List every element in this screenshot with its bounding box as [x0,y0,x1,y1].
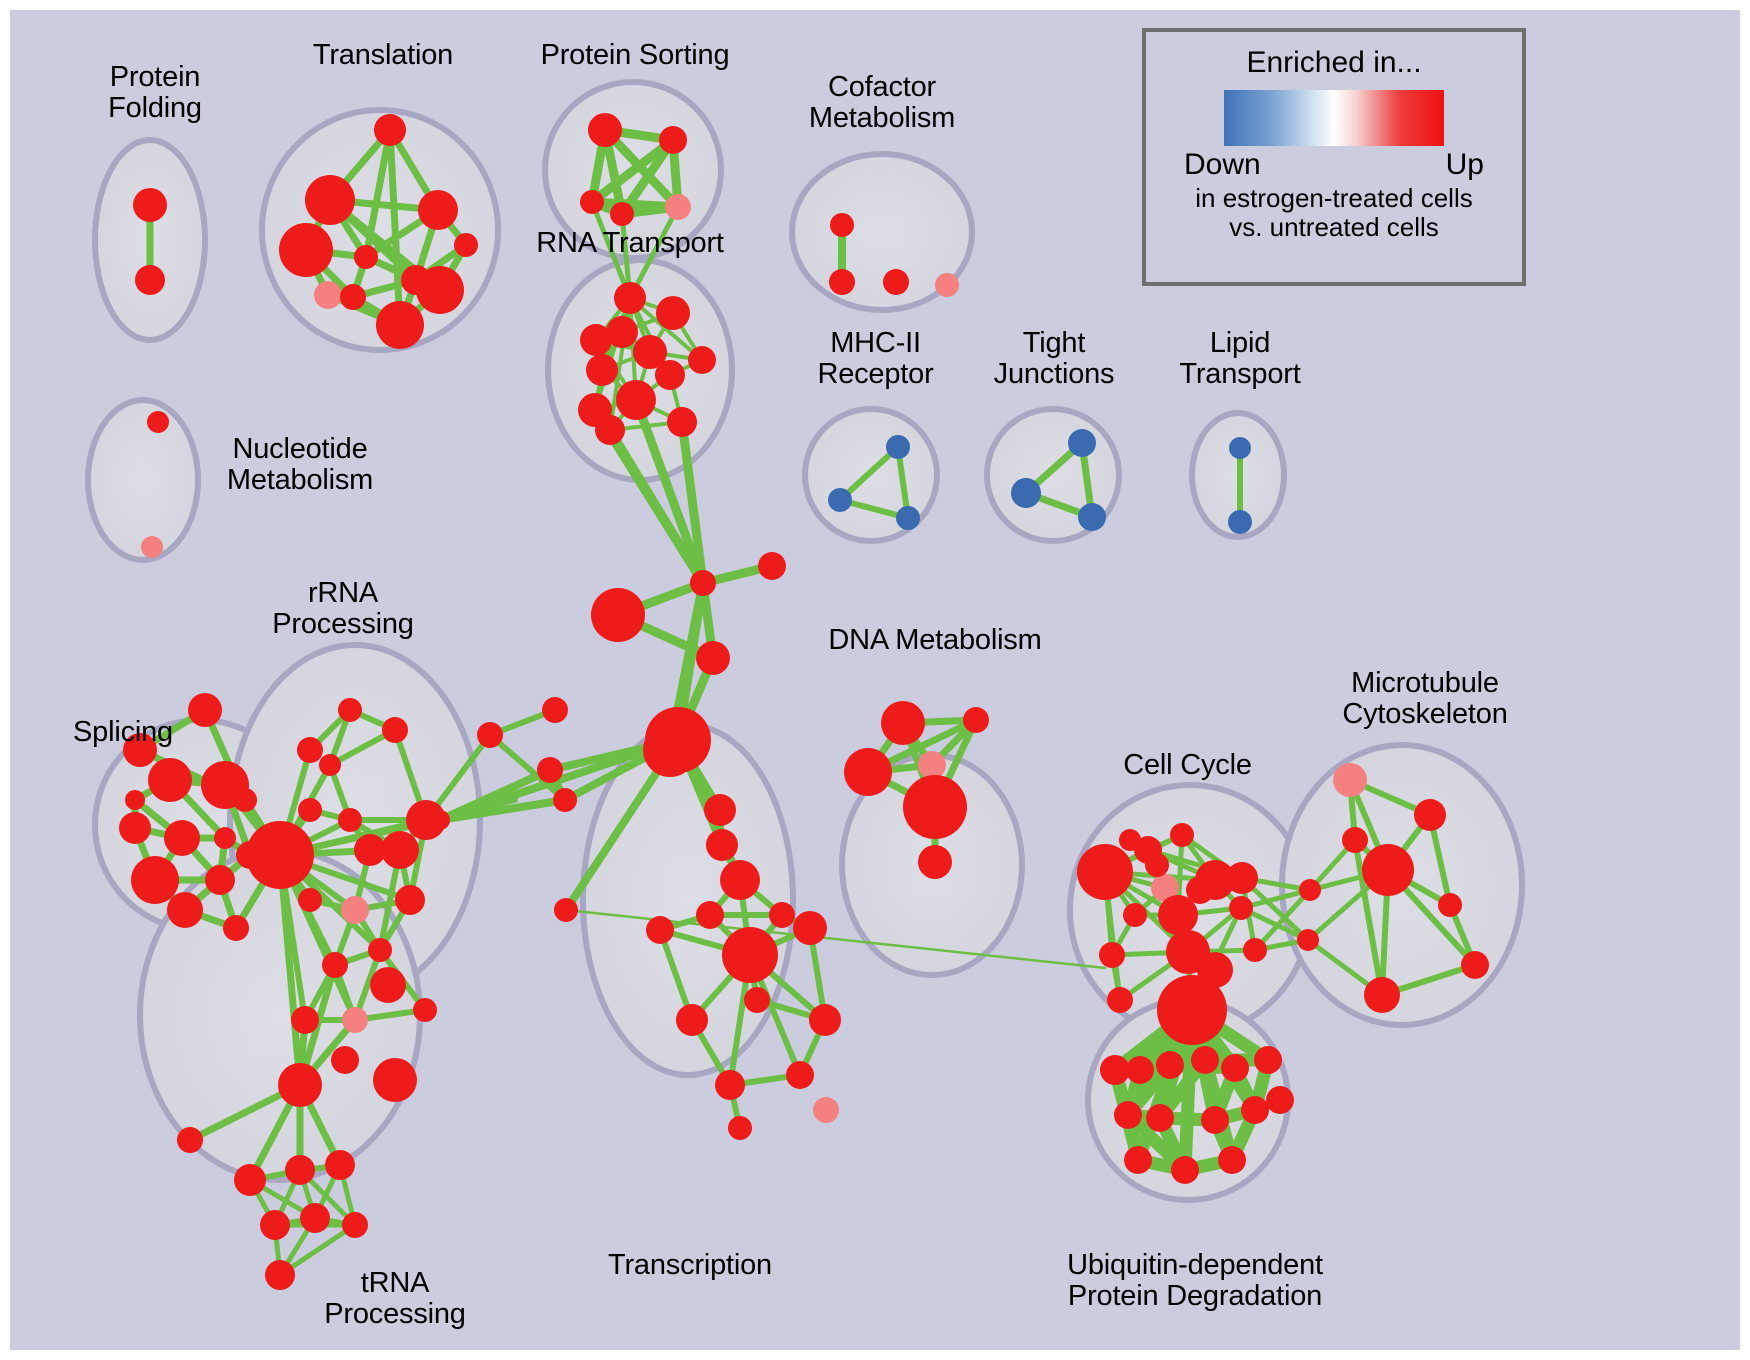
node [374,114,406,146]
node [260,1210,290,1240]
node [1077,844,1133,900]
node [646,916,674,944]
node [1124,1146,1152,1174]
cluster-label-ubiquitin: Ubiquitin-dependent Protein Degradation [985,1250,1405,1311]
node [376,301,424,349]
node [881,701,925,745]
node [676,1004,708,1036]
node [285,1155,315,1185]
cluster-label-rna-transport: RNA Transport [505,228,755,259]
node [758,552,786,580]
node [131,856,179,904]
node [368,938,392,962]
node [1266,1086,1294,1114]
node [298,798,322,822]
node [809,1004,841,1036]
legend-title: Enriched in... [1146,46,1522,80]
node [918,845,952,879]
cluster-label-protein-sorting: Protein Sorting [495,40,775,71]
node [1228,510,1252,534]
node [298,888,322,912]
node [643,723,697,777]
cluster-label-cell-cycle: Cell Cycle [1095,750,1280,781]
node [188,693,222,727]
node [1146,1104,1174,1132]
node [1414,799,1446,831]
node [454,233,478,257]
node [305,175,355,225]
node [141,536,163,558]
node [177,1127,203,1153]
node [148,758,192,802]
node [591,588,645,642]
node [769,902,795,928]
node [830,213,854,237]
node [586,354,618,386]
node [300,1203,330,1233]
cluster-label-tight-junctions: Tight Junctions [965,328,1143,389]
node [1119,829,1141,851]
node [1221,1054,1249,1082]
node [886,435,910,459]
node [340,284,366,310]
node [1197,952,1233,988]
node [119,812,151,844]
cluster-label-microtubule: Microtubule Cytoskeleton [1300,668,1550,729]
node [1068,429,1096,457]
node [314,281,342,309]
cluster-label-mhc-ii-receptor: MHC-II Receptor [788,328,963,389]
cluster-hull-nucleotide-metabolism [88,400,198,560]
cluster-label-transcription: Transcription [565,1250,815,1281]
node [1299,879,1321,901]
legend-color-gradient-bar [1224,90,1444,146]
node [580,190,604,214]
node [606,316,638,348]
legend-caption: in estrogen-treated cells vs. untreated … [1146,184,1522,242]
node [331,1046,359,1074]
node [935,273,959,297]
node [430,810,450,830]
node [279,223,333,277]
node [234,1164,266,1196]
node [342,1212,368,1238]
node [341,896,369,924]
node [278,1063,322,1107]
node [297,737,323,763]
node [553,788,577,812]
node [413,998,437,1022]
node [665,194,691,220]
node [381,831,419,869]
node [706,829,738,861]
legend-low-label: Down [1184,148,1261,182]
legend-panel: Enriched in... Down Up in estrogen-treat… [1142,28,1526,286]
node [1438,893,1462,917]
node [744,987,770,1013]
node [1333,763,1367,797]
cluster-label-trna-processing: tRNA Processing [300,1268,490,1329]
node [829,269,855,295]
legend-endpoints: Down Up [1184,148,1484,182]
node [614,282,646,314]
node [554,898,578,922]
node [1123,903,1147,927]
node [1218,1146,1246,1174]
legend-caption-line2: vs. untreated cells [1146,213,1522,242]
node [813,1097,839,1123]
node [477,722,503,748]
node [883,269,909,295]
node [537,757,563,783]
node [338,808,362,832]
node [595,415,625,445]
node [1241,1096,1269,1124]
node [1342,827,1368,853]
cluster-label-dna-metabolism: DNA Metabolism [805,625,1065,656]
figure-root: Protein Folding Translation Protein Sort… [0,0,1750,1360]
node [325,1150,355,1180]
node [659,126,687,154]
node [370,967,406,1003]
node [418,190,458,230]
node [1011,478,1041,508]
node [135,265,165,295]
node [265,1260,295,1290]
node [656,296,690,330]
legend-caption-line1: in estrogen-treated cells [1146,184,1522,213]
node [1114,1101,1142,1129]
node [918,751,946,779]
node [688,346,716,374]
node [1170,823,1194,847]
node [720,860,760,900]
node [125,790,145,810]
node [722,927,778,983]
node [164,820,200,856]
node [696,901,724,929]
node [1145,853,1169,877]
node [1099,942,1125,968]
cluster-label-cofactor-metabolism: Cofactor Metabolism [772,72,992,133]
node [1201,1106,1229,1134]
node [1107,987,1133,1013]
node [342,1007,368,1033]
node [667,407,697,437]
node [1186,876,1214,904]
node [354,245,378,269]
node [1243,938,1267,962]
node [1126,1056,1154,1084]
node [896,506,920,530]
node [1297,929,1319,951]
edge-group-spine [595,400,772,750]
node [1461,951,1489,979]
node [1229,896,1253,920]
node [133,188,167,222]
node [542,697,568,723]
cluster-label-lipid-transport: Lipid Transport [1150,328,1330,389]
node [786,1061,814,1089]
node [1100,1055,1130,1085]
node [291,1006,319,1034]
node [1226,862,1258,894]
node [1229,437,1251,459]
node [373,1058,417,1102]
node [963,707,989,733]
network-canvas: Protein Folding Translation Protein Sort… [10,10,1740,1350]
node [1156,1051,1184,1079]
node [704,794,736,826]
node [1254,1046,1282,1074]
node [1362,844,1414,896]
node [319,754,341,776]
node [382,717,408,743]
node [696,641,730,675]
node [793,911,827,945]
node [205,865,235,895]
node [903,775,967,839]
node [395,885,425,915]
cluster-label-rrna-processing: rRNA Processing [248,578,438,639]
legend-high-label: Up [1446,148,1484,182]
node [1171,1156,1199,1184]
node [416,266,464,314]
node [214,827,236,849]
node [201,761,249,809]
cluster-label-translation: Translation [278,40,488,71]
node [246,821,314,889]
node [167,892,203,928]
node [655,360,685,390]
node [338,698,362,722]
node [1191,1046,1219,1074]
cluster-label-splicing: Splicing [58,717,188,748]
node [588,113,622,147]
cluster-label-protein-folding: Protein Folding [70,62,240,123]
node [610,202,634,226]
node [322,952,348,978]
node [844,748,892,796]
node [828,488,852,512]
node [1078,503,1106,531]
node [728,1116,752,1140]
node [616,380,656,420]
node [715,1070,745,1100]
node [1364,977,1400,1013]
node [147,411,169,433]
node [223,915,249,941]
node [690,570,716,596]
cluster-label-nucleotide-metabolism: Nucleotide Metabolism [200,434,400,495]
